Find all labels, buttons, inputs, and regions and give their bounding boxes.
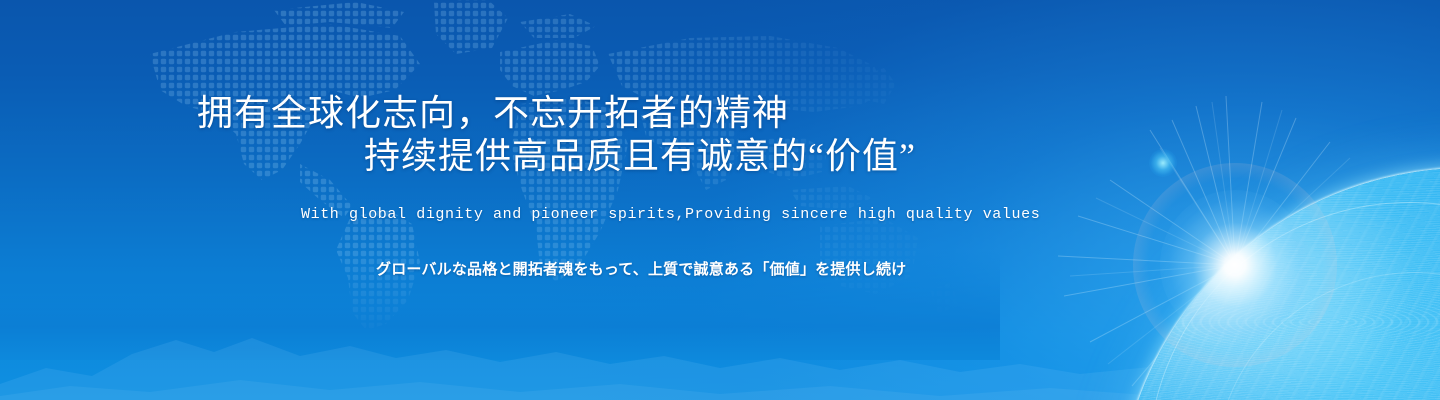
mountain-silhouette: [0, 280, 1160, 400]
headline-line-1: 拥有全球化志向，不忘开拓者的精神: [197, 91, 789, 135]
subtitle-japanese: グローバルな品格と開拓者魂をもって、上質で誠意ある「価値」を提供し続け: [376, 258, 906, 279]
headline-line-2: 持续提供高品质且有诚意的“价值”: [364, 134, 916, 178]
hero-banner: 拥有全球化志向，不忘开拓者的精神 持续提供高品质且有诚意的“价值” With g…: [0, 0, 1440, 400]
subtitle-english: With global dignity and pioneer spirits,…: [301, 206, 1040, 223]
earth-globe: [1118, 168, 1440, 400]
lens-flare-dot: [1149, 149, 1177, 177]
globe-texture: [1118, 168, 1440, 400]
